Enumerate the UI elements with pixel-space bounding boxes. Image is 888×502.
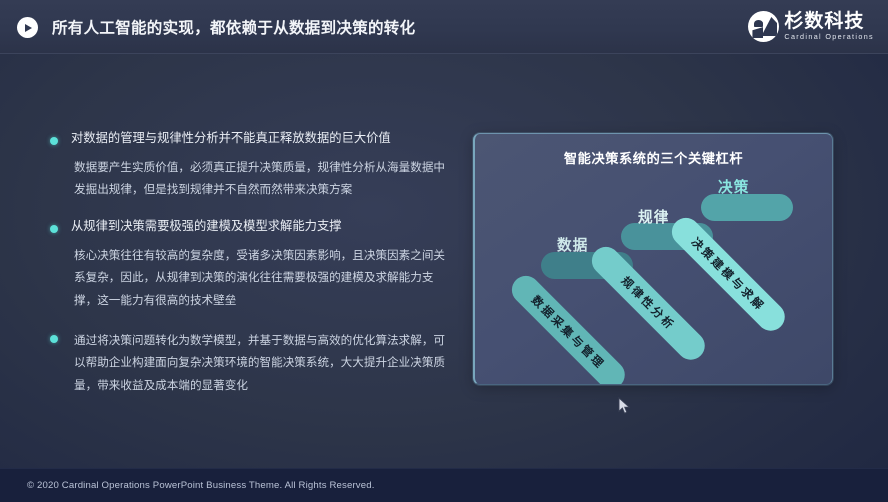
lever-caption: 规律 (638, 206, 670, 227)
lever-label: 决策建模与求解 (688, 234, 769, 315)
lever-diagonal-bar: 规律性分析 (586, 241, 710, 365)
logo-shape-left (752, 27, 763, 38)
three-levers-diagram: 数据采集与管理 数据 规律性分析 规律 决策建模与求解 决策 (475, 134, 833, 385)
copyright-text: © 2020 Cardinal Operations PowerPoint Bu… (27, 480, 375, 491)
bullet-body: 核心决策往往有较高的复杂度，受诸多决策因素影响，且决策因素之间关系复杂，因此，从… (74, 244, 450, 312)
play-icon (17, 17, 38, 38)
slide-header: 所有人工智能的实现，都依赖于从数据到决策的转化 杉数科技 Cardinal Op… (0, 0, 888, 54)
logo-shape-top (754, 20, 763, 27)
mouse-pointer-icon (618, 397, 632, 415)
lever-back-bar (701, 194, 793, 221)
bullet-block: 通过将决策问题转化为数学模型，并基于数据与高效的优化算法求解，可以帮助企业构建面… (50, 329, 450, 397)
brand-logo: 杉数科技 Cardinal Operations (748, 11, 874, 42)
bullet-block: 对数据的管理与规律性分析并不能真正释放数据的巨大价值 数据要产生实质价值，必须真… (50, 130, 450, 201)
diagram-panel: 智能决策系统的三个关键杠杆 数据采集与管理 数据 规律性分析 规律 决策建模 (473, 133, 833, 385)
lever-diagonal-bar: 决策建模与求解 (666, 212, 790, 336)
slide-canvas: 所有人工智能的实现，都依赖于从数据到决策的转化 杉数科技 Cardinal Op… (0, 0, 888, 502)
slide-footer: © 2020 Cardinal Operations PowerPoint Bu… (0, 468, 888, 502)
lever-label: 规律性分析 (618, 273, 679, 334)
lever-label: 数据采集与管理 (528, 292, 609, 373)
brand-name-en: Cardinal Operations (784, 33, 874, 40)
bullet-dot-icon (50, 225, 58, 233)
cardinal-operations-logo-icon (748, 11, 779, 42)
lever-caption: 数据 (557, 234, 589, 255)
bullet-body: 通过将决策问题转化为数学模型，并基于数据与高效的优化算法求解，可以帮助企业构建面… (74, 329, 450, 397)
page-title: 所有人工智能的实现，都依赖于从数据到决策的转化 (52, 16, 415, 38)
bullet-body: 数据要产生实质价值，必须真正提升决策质量，规律性分析从海量数据中发掘出规律，但是… (74, 156, 450, 201)
brand-text: 杉数科技 Cardinal Operations (784, 12, 874, 40)
logo-shape-right (761, 17, 777, 36)
lever-caption: 决策 (718, 176, 750, 197)
bullet-block: 从规律到决策需要极强的建模及模型求解能力支撑 核心决策往往有较高的复杂度，受诸多… (50, 218, 450, 312)
bullet-heading: 对数据的管理与规律性分析并不能真正释放数据的巨大价值 (71, 130, 450, 148)
bullet-heading: 从规律到决策需要极强的建模及模型求解能力支撑 (71, 218, 450, 236)
bullet-list: 对数据的管理与规律性分析并不能真正释放数据的巨大价值 数据要产生实质价值，必须真… (50, 130, 450, 396)
play-triangle (25, 24, 32, 32)
bullet-dot-icon (50, 335, 58, 343)
bullet-dot-icon (50, 137, 58, 145)
brand-name-cn: 杉数科技 (784, 12, 874, 31)
